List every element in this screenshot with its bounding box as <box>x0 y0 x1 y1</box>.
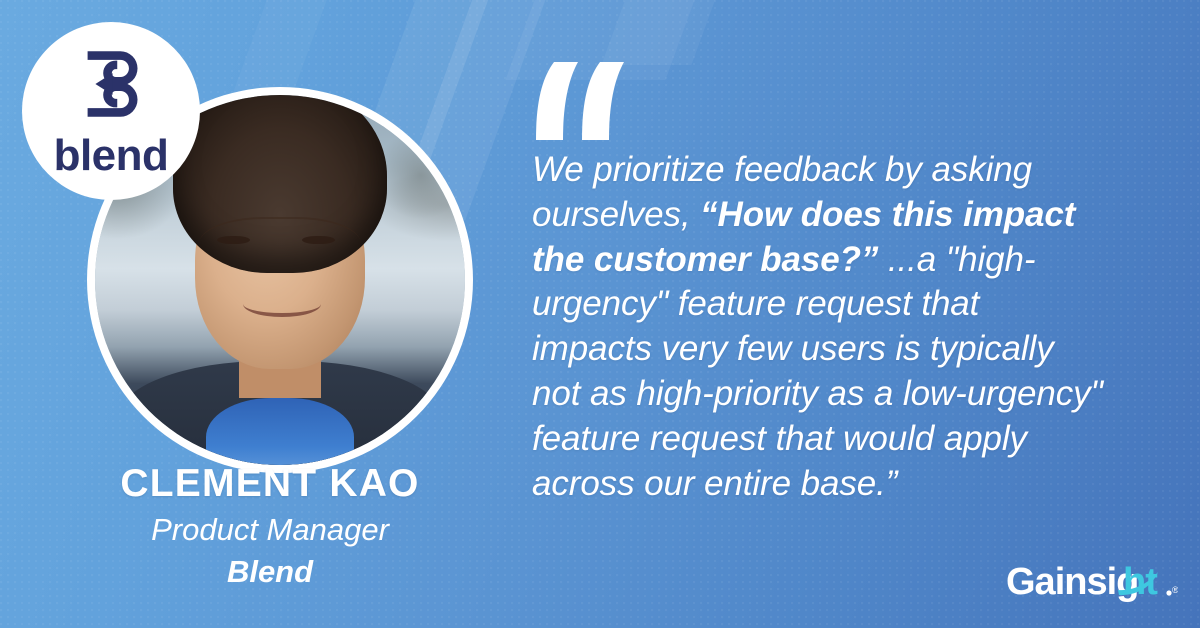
person-details: CLEMENT KAO Product Manager Blend <box>0 462 540 592</box>
portrait-shirt <box>206 398 354 465</box>
svg-text:ht: ht <box>1123 561 1158 603</box>
svg-text:®: ® <box>1172 585 1178 595</box>
person-role: Product Manager <box>0 510 540 550</box>
quote-card: blend CLEMENT KAO Product Manager Blend … <box>0 0 1200 628</box>
profile-panel: blend CLEMENT KAO Product Manager Blend <box>0 0 500 628</box>
blend-wordmark: blend <box>54 134 169 178</box>
blend-b-arrow-icon <box>72 45 150 128</box>
person-company: Blend <box>0 552 540 592</box>
double-quote-icon <box>532 62 628 140</box>
quote-panel: We prioritize feedback by asking ourselv… <box>530 0 1130 628</box>
quote-run: ...a "high-urgency" feature request that… <box>532 240 1103 503</box>
blend-logo: blend <box>22 22 200 200</box>
quote-text: We prioritize feedback by asking ourselv… <box>532 148 1108 506</box>
gainsight-logo: Gainsig ht ® <box>1006 560 1178 606</box>
svg-text:Gainsig: Gainsig <box>1006 561 1138 603</box>
person-name: CLEMENT KAO <box>0 462 540 507</box>
portrait-smile <box>243 291 321 317</box>
